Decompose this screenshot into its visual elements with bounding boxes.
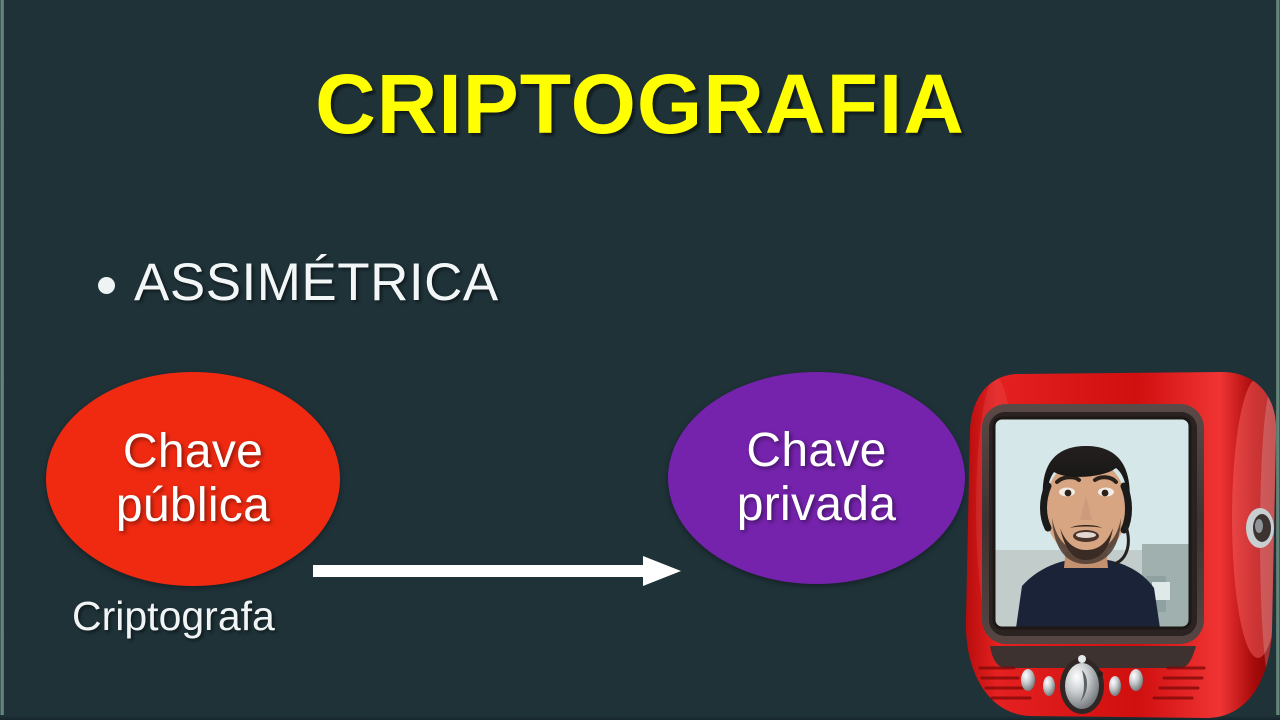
webcam-screen: [994, 418, 1190, 628]
public-key-caption: Criptografa: [72, 596, 275, 637]
knob-4: [1129, 669, 1143, 691]
presentation-slide: CRIPTOGRAFIA ASSIMÉTRICA Chave pública C…: [0, 0, 1280, 720]
private-key-line-1: Chave: [746, 424, 886, 477]
bullet-item: ASSIMÉTRICA: [98, 256, 499, 309]
bullet-dot-icon: [98, 277, 115, 294]
side-dial: [1246, 508, 1274, 548]
public-key-text: Chave pública: [116, 425, 270, 533]
retro-tv-frame: [966, 372, 1280, 718]
knob-3: [1109, 676, 1121, 696]
knob-1: [1021, 669, 1035, 691]
right-arrow-icon: [313, 556, 681, 586]
private-key-text: Chave privada: [737, 424, 897, 532]
bullet-item-label: ASSIMÉTRICA: [134, 256, 499, 309]
presenter-webcam-overlay[interactable]: [956, 368, 1280, 720]
private-key-ellipse: Chave privada: [668, 372, 965, 584]
slide-title: CRIPTOGRAFIA: [0, 62, 1280, 146]
public-key-line-2: pública: [116, 479, 270, 533]
public-key-line-1: Chave: [123, 425, 263, 478]
knob-2: [1043, 676, 1055, 696]
private-key-line-2: privada: [737, 478, 897, 532]
indicator-led: [1078, 655, 1086, 663]
public-key-ellipse: Chave pública: [46, 372, 340, 586]
